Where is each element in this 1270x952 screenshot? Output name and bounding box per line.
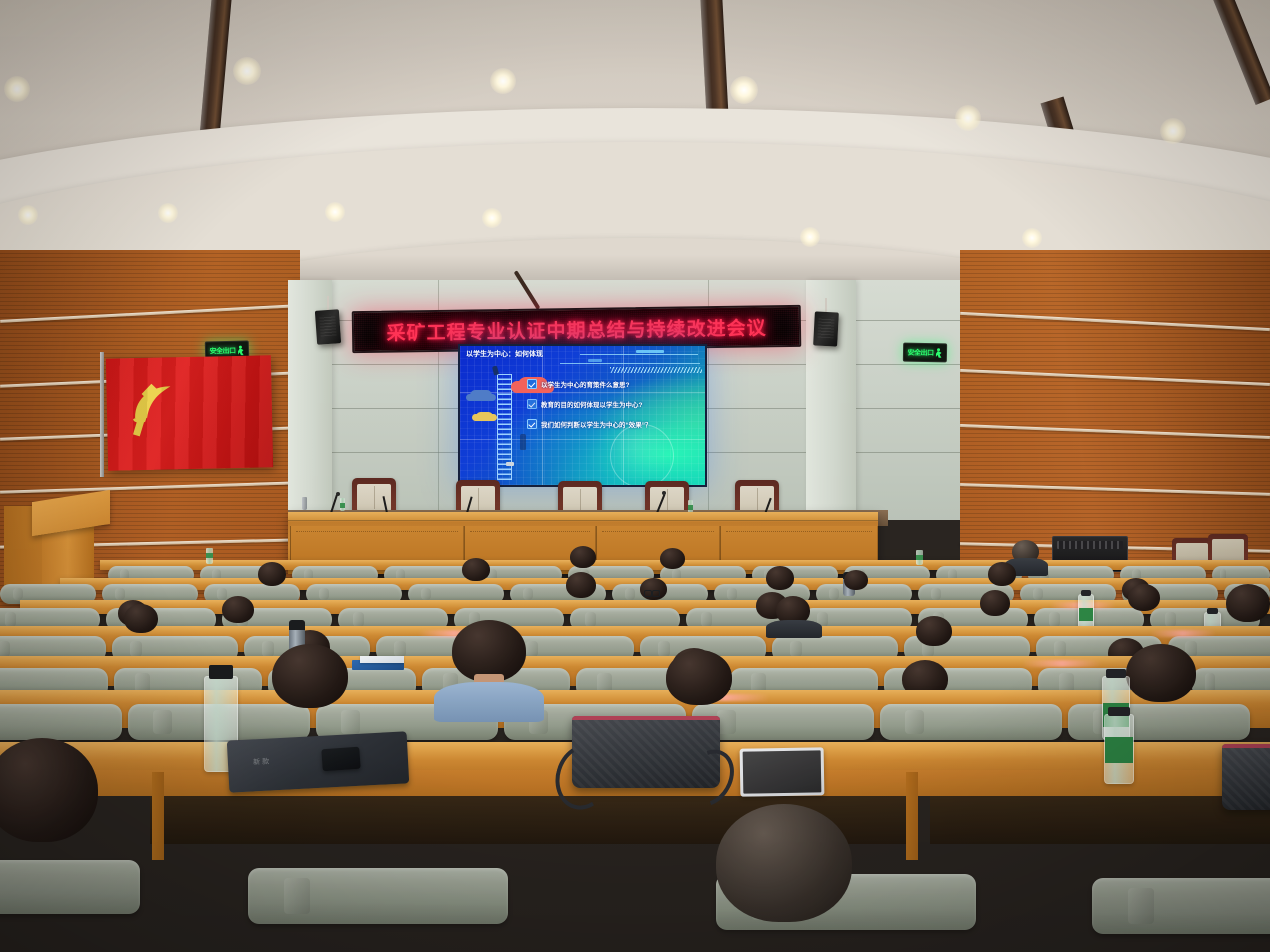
- ceiling-downlight: [955, 105, 981, 131]
- slide-hatch-pattern: [610, 367, 702, 373]
- ceiling-downlight: [233, 57, 261, 85]
- tablet-device[interactable]: [740, 747, 825, 796]
- bullet-text: 我们如何判断以学生为中心的“效果”？: [541, 419, 652, 429]
- head: [716, 804, 852, 922]
- seat-back-foreground: [0, 860, 140, 914]
- ceiling-downlight: [4, 76, 30, 102]
- slide-bullet: 我们如何判断以学生为中心的“效果”？: [527, 419, 652, 429]
- sleeve-print: 新款: [253, 756, 271, 767]
- shoulders: [434, 682, 544, 722]
- presentation-screen: 以学生为中心：如何体现 以学生为中心的育策件么意思? 教育的目的如何体现: [458, 344, 707, 487]
- glasses: [644, 590, 660, 595]
- laptop-sleeve: 新款: [227, 731, 409, 792]
- checkbox-icon: [527, 379, 537, 389]
- exit-sign-label: 安全出口: [907, 347, 933, 357]
- ceiling-downlight: [482, 208, 502, 228]
- slide-deco-bar: [636, 350, 664, 353]
- slide-footer-mark: [506, 462, 514, 466]
- water-bottle: [302, 497, 307, 510]
- head: [980, 590, 1010, 616]
- speaker-bracket: [327, 296, 329, 310]
- presidium-chair[interactable]: [352, 478, 396, 514]
- running-man-icon: [237, 345, 244, 355]
- ceiling-downlight: [800, 227, 820, 247]
- smartphone: [321, 747, 360, 772]
- checkbox-icon: [527, 399, 537, 409]
- head: [1126, 644, 1196, 702]
- seat-back-foreground: [1092, 878, 1270, 934]
- head: [124, 604, 158, 633]
- head: [570, 546, 596, 568]
- head: [660, 548, 685, 569]
- led-banner-text: 采矿工程专业认证中期总结与持续改进会议: [386, 313, 766, 345]
- ceiling-downlight: [18, 205, 38, 225]
- microphone-head: [662, 491, 666, 495]
- seat-back-foreground: [248, 868, 508, 924]
- checkbox-icon: [527, 419, 537, 429]
- water-bottle: [916, 550, 923, 565]
- ceiling-downlight: [1022, 228, 1042, 248]
- slide-bullet: 以学生为中心的育策件么意思?: [527, 379, 629, 389]
- globe-graphic: [610, 424, 674, 487]
- head: [1128, 584, 1160, 611]
- head: [462, 558, 490, 581]
- seat-back: [0, 704, 122, 740]
- lectern: [4, 496, 112, 588]
- seat-back: [880, 704, 1062, 740]
- head: [222, 596, 254, 623]
- slide-deco-bar: [588, 359, 602, 362]
- lectern-top: [32, 490, 110, 536]
- head: [844, 570, 868, 590]
- seat-back: [1068, 704, 1250, 740]
- desk-leg: [906, 772, 918, 860]
- speaker-bracket: [825, 298, 827, 312]
- water-bottle: [206, 548, 213, 564]
- party-flag: [106, 355, 273, 470]
- desk-leg: [152, 772, 164, 860]
- running-man-icon: [935, 348, 942, 358]
- water-bottle: [1078, 594, 1094, 630]
- ceiling-downlight: [1160, 118, 1186, 144]
- water-bottle: [1104, 714, 1134, 784]
- head: [566, 572, 596, 598]
- wall-speaker-left: [315, 309, 341, 345]
- ceiling-beam: [1211, 0, 1270, 105]
- desk-under-shelf: [930, 796, 1270, 844]
- paper: [360, 656, 404, 663]
- cloud-icon: [470, 390, 492, 401]
- head: [1226, 584, 1270, 622]
- slide-deco-line: [560, 363, 700, 364]
- emergency-exit-sign-right: 安全出口: [903, 343, 947, 363]
- head: [452, 620, 526, 682]
- ceiling-downlight: [158, 203, 178, 223]
- wall-speaker-right: [813, 311, 839, 346]
- ceiling-downlight: [490, 68, 516, 94]
- handbag-right: [1222, 744, 1270, 810]
- lecture-hall-photo: 采矿工程专业认证中期总结与持续改进会议 以学生为中心：如何体现: [0, 0, 1270, 952]
- head: [258, 562, 286, 586]
- head: [272, 644, 348, 708]
- ceiling-downlight: [730, 76, 758, 104]
- slide-deco-line: [580, 354, 698, 355]
- slide-title: 以学生为中心：如何体现: [466, 349, 543, 359]
- bullet-text: 以学生为中心的育策件么意思?: [541, 379, 629, 389]
- hammer-and-sickle-emblem: [124, 377, 181, 440]
- desk-light-reflection: [1150, 630, 1216, 637]
- head: [988, 562, 1016, 586]
- head: [916, 616, 952, 646]
- climber-figure-icon: [520, 434, 526, 450]
- flag-pole: [100, 352, 104, 477]
- microphone-head: [336, 492, 340, 496]
- desk-light-reflection: [1022, 660, 1102, 667]
- cloud-icon: [476, 412, 493, 421]
- slide: 以学生为中心：如何体现 以学生为中心的育策件么意思? 教育的目的如何体现: [460, 346, 705, 485]
- exit-sign-label: 安全出口: [209, 345, 235, 356]
- videowall-seam: [542, 346, 543, 485]
- table-top: [288, 512, 878, 521]
- head: [666, 650, 732, 705]
- slide-bullet: 教育的目的如何体现以学生为中心?: [527, 399, 642, 409]
- water-bottle: [340, 498, 345, 511]
- shoulders: [766, 620, 822, 638]
- bullet-text: 教育的目的如何体现以学生为中心?: [541, 399, 642, 409]
- head: [766, 566, 794, 590]
- ceiling-downlight: [325, 202, 345, 222]
